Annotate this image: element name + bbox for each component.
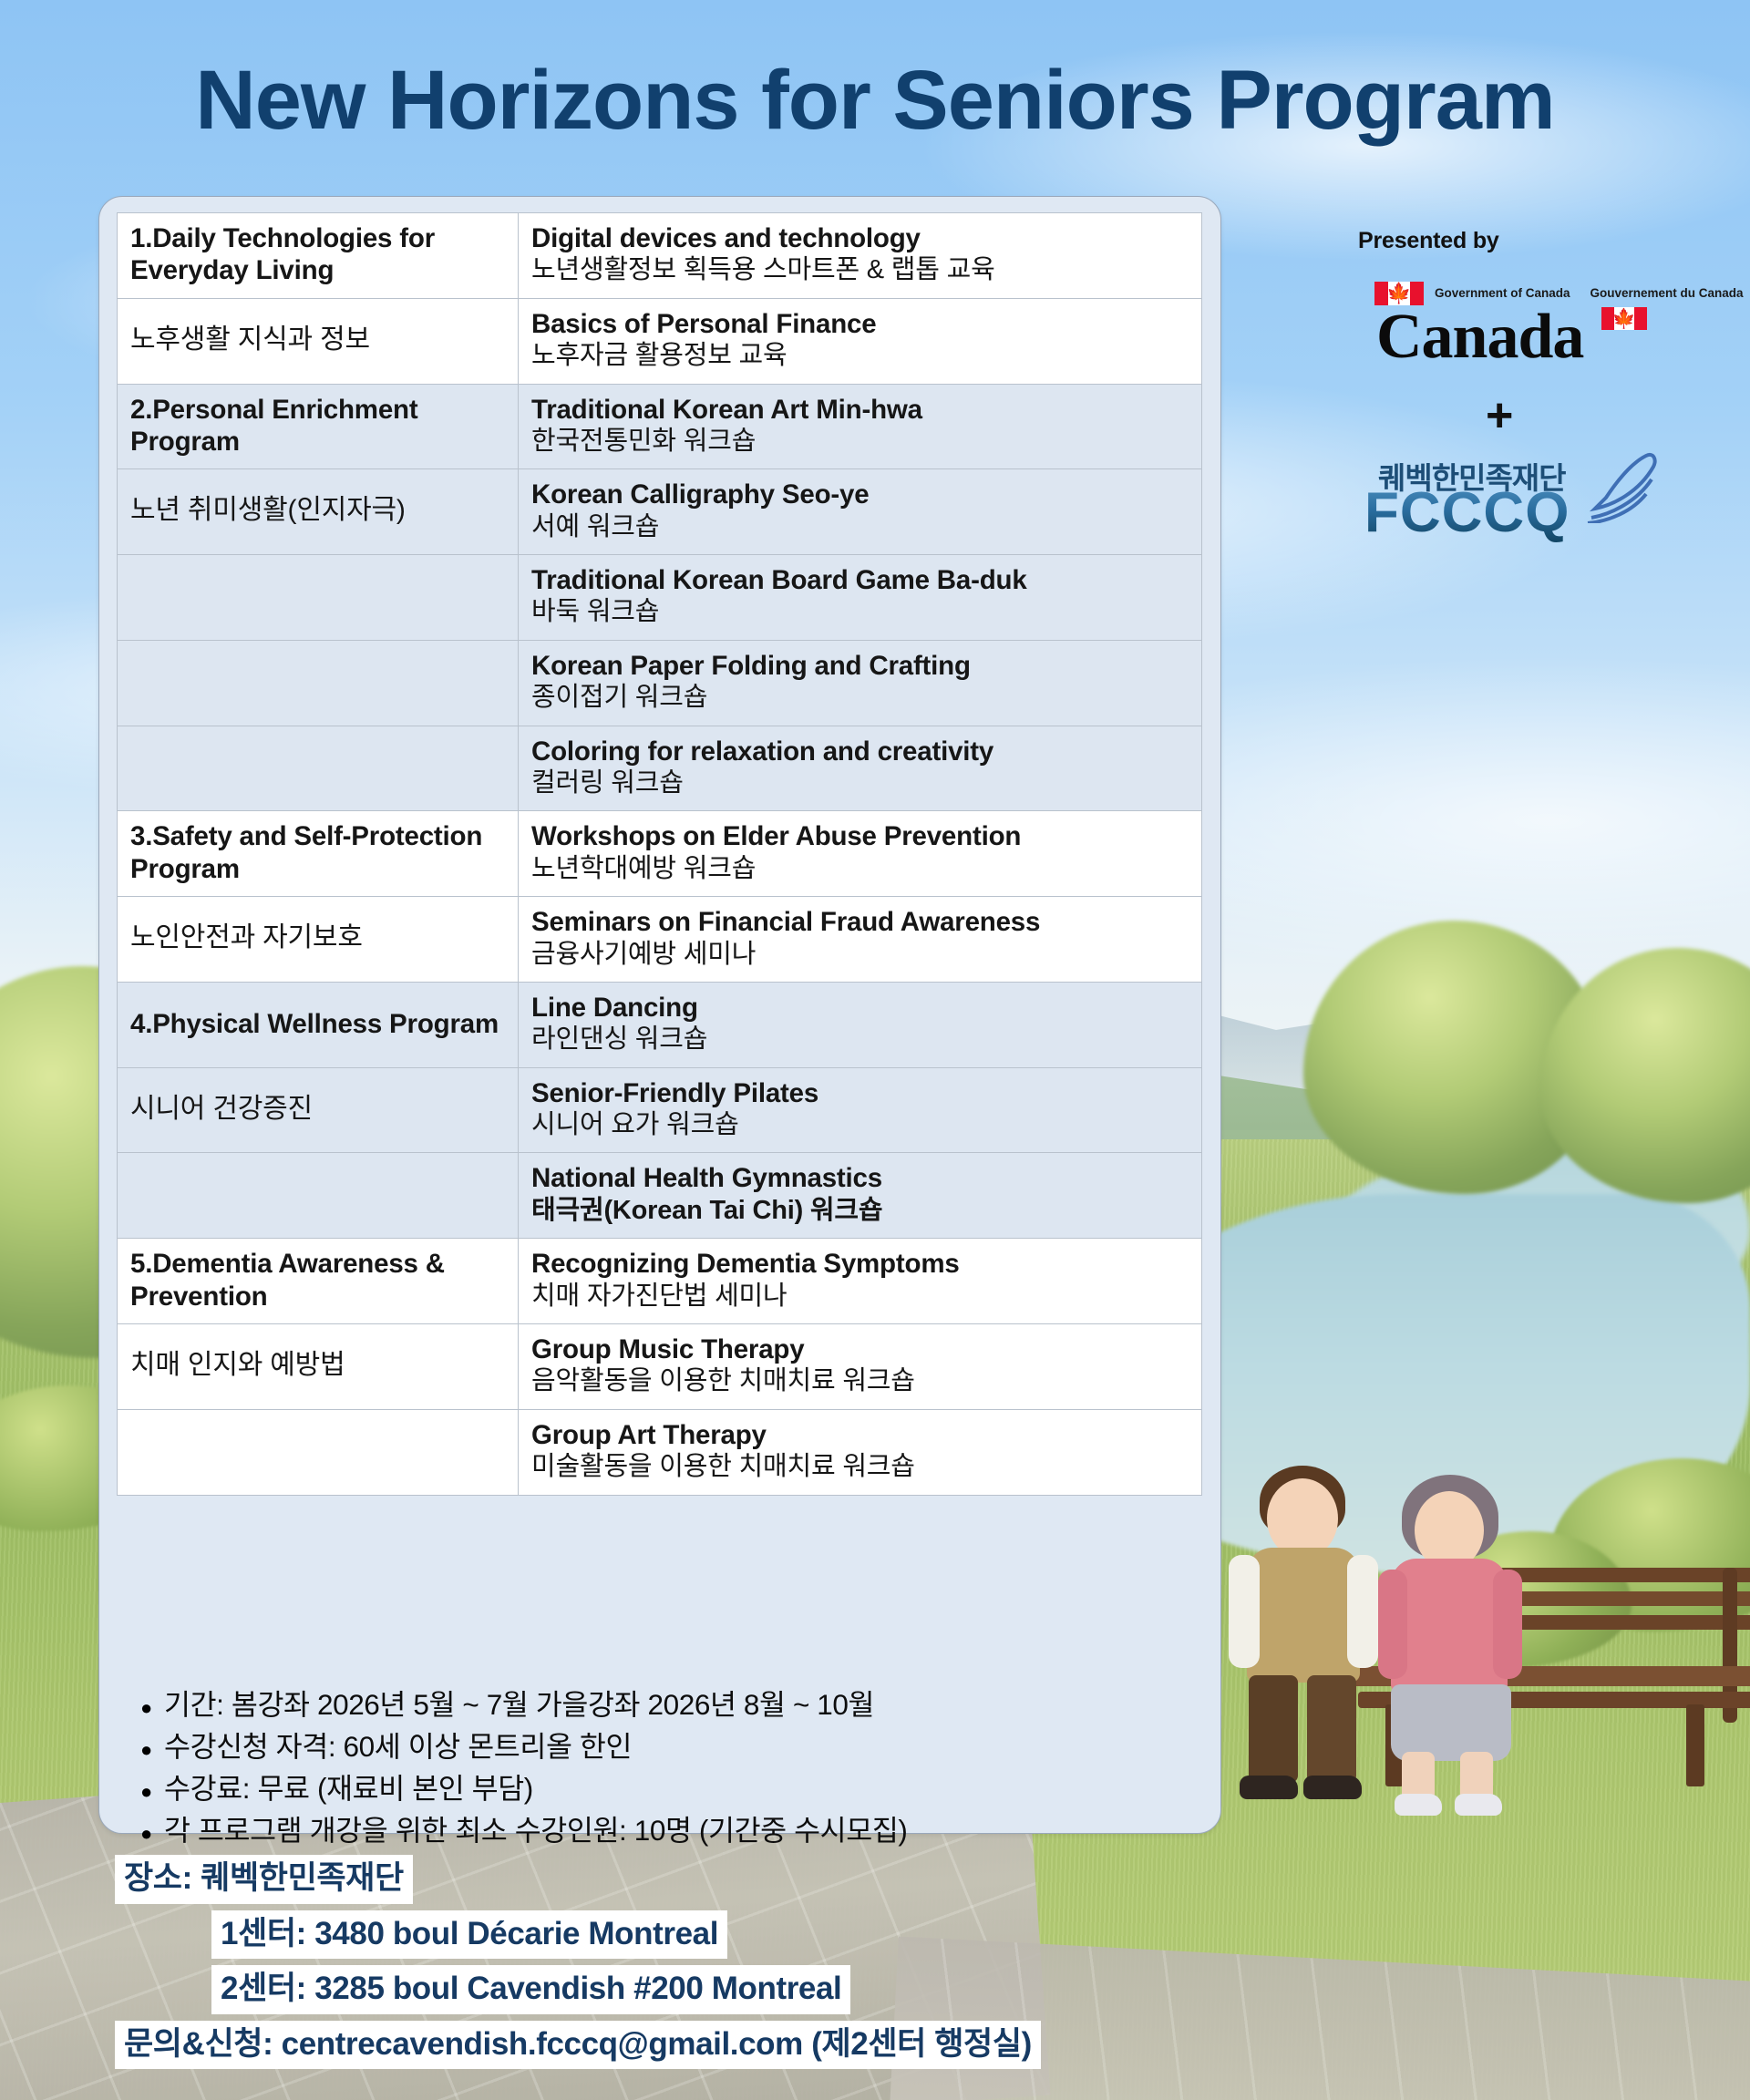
- address-center2: 2센터: 3285 boul Cavendish #200 Montreal: [211, 1965, 850, 2014]
- item-title-en: Line Dancing: [531, 992, 1190, 1024]
- woman-skirt: [1391, 1684, 1511, 1761]
- item-title-kr: 종이접기 워크숍: [531, 682, 1190, 714]
- bench-leg-right: [1686, 1704, 1704, 1786]
- category-title-kr: 노인안전과 자기보호: [130, 921, 507, 955]
- table-row: 노인안전과 자기보호Seminars on Financial Fraud Aw…: [118, 897, 1202, 983]
- note-text: 수강료: 무료 (재료비 본인 부담): [164, 1768, 533, 1810]
- bullet-icon: ●: [140, 1693, 164, 1723]
- program-schedule-table: 1.Daily Technologies for Everyday Living…: [117, 212, 1202, 1496]
- category-title-en: 4.Physical Wellness Program: [130, 1008, 507, 1040]
- list-item: ●수강료: 무료 (재료비 본인 부담): [117, 1768, 1201, 1810]
- item-title-kr: 노년생활정보 획득용 스마트폰 & 랩톱 교육: [531, 254, 1190, 286]
- bench-backrest-slat-3: [1486, 1615, 1750, 1630]
- table-row: 3.Safety and Self-Protection ProgramWork…: [118, 811, 1202, 897]
- category-title-en: 3.Safety and Self-Protection Program: [130, 820, 507, 885]
- table-row: National Health Gymnastics태극권(Korean Tai…: [118, 1153, 1202, 1239]
- table-row: 1.Daily Technologies for Everyday Living…: [118, 213, 1202, 299]
- item-title-en: Korean Calligraphy Seo-ye: [531, 479, 1190, 510]
- man-shoe-left: [1240, 1776, 1298, 1799]
- program-category-cell: [118, 1409, 519, 1495]
- program-category-cell: 치매 인지와 예방법: [118, 1324, 519, 1410]
- table-row: Group Art Therapy미술활동을 이용한 치매치료 워크숍: [118, 1409, 1202, 1495]
- program-item-cell: Recognizing Dementia Symptoms치매 자가진단법 세미…: [519, 1239, 1202, 1324]
- address-center1: 1센터: 3480 boul Décarie Montreal: [211, 1910, 727, 1960]
- woman-shoe-right: [1455, 1794, 1502, 1816]
- program-category-cell: 2.Personal Enrichment Program: [118, 384, 519, 469]
- program-category-cell: [118, 555, 519, 641]
- program-item-cell: Line Dancing라인댄싱 워크숍: [519, 982, 1202, 1067]
- program-category-cell: 1.Daily Technologies for Everyday Living: [118, 213, 519, 299]
- man-vest: [1247, 1548, 1360, 1683]
- program-item-cell: Workshops on Elder Abuse Prevention노년학대예…: [519, 811, 1202, 897]
- list-item: ●수강신청 자격: 60세 이상 몬트리올 한인: [117, 1726, 1201, 1768]
- address-block: 장소: 퀘벡한민족재단 1센터: 3480 boul Décarie Montr…: [0, 1855, 1750, 2075]
- table-row: 시니어 건강증진Senior-Friendly Pilates시니어 요가 워크…: [118, 1067, 1202, 1153]
- table-row: 2.Personal Enrichment ProgramTraditional…: [118, 384, 1202, 469]
- program-category-cell: [118, 726, 519, 811]
- item-title-en: Traditional Korean Board Game Ba-duk: [531, 564, 1190, 596]
- item-title-kr: 노후자금 활용정보 교육: [531, 340, 1190, 372]
- item-title-kr: 치매 자가진단법 세미나: [531, 1281, 1190, 1312]
- man-arm-right: [1347, 1555, 1378, 1668]
- note-text: 수강신청 자격: 60세 이상 몬트리올 한인: [164, 1726, 632, 1768]
- item-title-kr: 미술활동을 이용한 치매치료 워크숍: [531, 1451, 1190, 1483]
- program-category-cell: 노년 취미생활(인지자극): [118, 469, 519, 555]
- table-row: Korean Paper Folding and Crafting종이접기 워크…: [118, 640, 1202, 726]
- plus-separator-icon: +: [1486, 392, 1513, 439]
- program-item-cell: Coloring for relaxation and creativity컬러…: [519, 726, 1202, 811]
- item-title-kr: 시니어 요가 워크숍: [531, 1109, 1190, 1141]
- item-title-en: Coloring for relaxation and creativity: [531, 736, 1190, 767]
- program-item-cell: Traditional Korean Art Min-hwa한국전통민화 워크숍: [519, 384, 1202, 469]
- bench-backrest-slat-1: [1486, 1568, 1750, 1582]
- item-title-en: Korean Paper Folding and Crafting: [531, 650, 1190, 682]
- category-title-en: 2.Personal Enrichment Program: [130, 394, 507, 458]
- list-item: ●각 프로그램 개강을 위한 최소 수강인원: 10명 (기간중 수시모집): [117, 1810, 1201, 1852]
- maple-leaf-icon-small: 🍁: [1612, 309, 1636, 328]
- program-item-cell: Traditional Korean Board Game Ba-duk바둑 워…: [519, 555, 1202, 641]
- program-category-cell: 시니어 건강증진: [118, 1067, 519, 1153]
- program-notes-list: ●기간: 봄강좌 2026년 5월 ~ 7월 가을강좌 2026년 8월 ~ 1…: [117, 1670, 1201, 1861]
- list-item: ●기간: 봄강좌 2026년 5월 ~ 7월 가을강좌 2026년 8월 ~ 1…: [117, 1684, 1201, 1726]
- item-title-kr: 서예 워크숍: [531, 511, 1190, 543]
- man-arm-left: [1229, 1555, 1260, 1668]
- item-title-en: National Health Gymnastics: [531, 1162, 1190, 1194]
- item-title-kr: 라인댄싱 워크숍: [531, 1024, 1190, 1055]
- government-of-canada-fr: Gouvernement du Canada: [1590, 286, 1744, 302]
- bench-backrest-slat-2: [1486, 1591, 1750, 1606]
- program-category-cell: 5.Dementia Awareness & Prevention: [118, 1239, 519, 1324]
- table-row: Coloring for relaxation and creativity컬러…: [118, 726, 1202, 811]
- table-row: Traditional Korean Board Game Ba-duk바둑 워…: [118, 555, 1202, 641]
- woman-shoe-left: [1395, 1794, 1442, 1816]
- bullet-icon: ●: [140, 1777, 164, 1807]
- address-contact[interactable]: 문의&신청: centrecavendish.fcccq@gmail.com (…: [115, 2021, 1041, 2070]
- wing-icon: [1586, 441, 1666, 523]
- program-category-cell: [118, 640, 519, 726]
- item-title-en: Digital devices and technology: [531, 222, 1190, 254]
- item-title-kr: 노년학대예방 워크숍: [531, 853, 1190, 885]
- program-category-cell: 노인안전과 자기보호: [118, 897, 519, 983]
- table-row: 4.Physical Wellness ProgramLine Dancing라…: [118, 982, 1202, 1067]
- program-category-cell: [118, 1153, 519, 1239]
- program-item-cell: National Health Gymnastics태극권(Korean Tai…: [519, 1153, 1202, 1239]
- item-title-en: Senior-Friendly Pilates: [531, 1077, 1190, 1109]
- program-item-cell: Digital devices and technology노년생활정보 획득용…: [519, 213, 1202, 299]
- canada-wordmark-flag-icon: 🍁: [1601, 307, 1647, 330]
- category-title-kr: 노후생활 지식과 정보: [130, 324, 507, 357]
- table-row: 5.Dementia Awareness & PreventionRecogni…: [118, 1239, 1202, 1324]
- category-title-en: 1.Daily Technologies for Everyday Living: [130, 222, 507, 287]
- program-item-cell: Group Music Therapy음악활동을 이용한 치매치료 워크숍: [519, 1324, 1202, 1410]
- page-title: New Horizons for Seniors Program: [0, 53, 1750, 149]
- table-row: 노후생활 지식과 정보Basics of Personal Finance노후자…: [118, 298, 1202, 384]
- item-title-en: Basics of Personal Finance: [531, 308, 1190, 340]
- program-category-cell: 3.Safety and Self-Protection Program: [118, 811, 519, 897]
- woman-arm-right: [1493, 1570, 1522, 1679]
- program-item-cell: Group Art Therapy미술활동을 이용한 치매치료 워크숍: [519, 1409, 1202, 1495]
- item-title-kr: 금융사기예방 세미나: [531, 939, 1190, 971]
- item-title-en: Recognizing Dementia Symptoms: [531, 1248, 1190, 1280]
- item-title-en: Seminars on Financial Fraud Awareness: [531, 906, 1190, 938]
- item-title-kr: 음악활동을 이용한 치매치료 워크숍: [531, 1365, 1190, 1397]
- program-item-cell: Seminars on Financial Fraud Awareness금융사…: [519, 897, 1202, 983]
- table-row: 치매 인지와 예방법Group Music Therapy음악활동을 이용한 치…: [118, 1324, 1202, 1410]
- program-item-cell: Korean Calligraphy Seo-ye서예 워크숍: [519, 469, 1202, 555]
- man-leg-left: [1249, 1675, 1298, 1783]
- note-text: 기간: 봄강좌 2026년 5월 ~ 7월 가을강좌 2026년 8월 ~ 10…: [164, 1684, 874, 1726]
- note-text: 각 프로그램 개강을 위한 최소 수강인원: 10명 (기간중 수시모집): [164, 1810, 908, 1852]
- program-item-cell: Korean Paper Folding and Crafting종이접기 워크…: [519, 640, 1202, 726]
- fcccq-wordmark: FCCCQ: [1364, 480, 1570, 545]
- item-title-kr: 컬러링 워크숍: [531, 767, 1190, 799]
- item-title-kr: 태극권(Korean Tai Chi) 워크숍: [531, 1195, 1190, 1227]
- elderly-couple-illustration: [1212, 1431, 1750, 1832]
- category-title-kr: 시니어 건강증진: [130, 1093, 507, 1127]
- woman-arm-left: [1378, 1570, 1407, 1679]
- canada-wordmark: Canada: [1376, 301, 1583, 374]
- category-title-en: 5.Dementia Awareness & Prevention: [130, 1248, 507, 1312]
- address-venue: 장소: 퀘벡한민족재단: [115, 1855, 413, 1904]
- item-title-en: Group Art Therapy: [531, 1419, 1190, 1451]
- bullet-icon: ●: [140, 1819, 164, 1848]
- item-title-kr: 한국전통민화 워크숍: [531, 426, 1190, 458]
- poster-root: New Horizons for Seniors Program 1.Daily…: [0, 0, 1750, 2100]
- presented-by-label: Presented by: [1358, 228, 1499, 254]
- bullet-icon: ●: [140, 1735, 164, 1765]
- category-title-kr: 노년 취미생활(인지자극): [130, 494, 507, 528]
- table-row: 노년 취미생활(인지자극)Korean Calligraphy Seo-ye서예…: [118, 469, 1202, 555]
- government-of-canada-en: Government of Canada: [1435, 286, 1570, 302]
- man-leg-right: [1307, 1675, 1356, 1783]
- item-title-en: Group Music Therapy: [531, 1333, 1190, 1365]
- man-head: [1267, 1478, 1338, 1559]
- item-title-en: Workshops on Elder Abuse Prevention: [531, 820, 1190, 852]
- program-category-cell: 노후생활 지식과 정보: [118, 298, 519, 384]
- program-item-cell: Basics of Personal Finance노후자금 활용정보 교육: [519, 298, 1202, 384]
- man-shoe-right: [1303, 1776, 1362, 1799]
- item-title-kr: 바둑 워크숍: [531, 596, 1190, 628]
- woman-cardigan: [1391, 1559, 1508, 1693]
- program-item-cell: Senior-Friendly Pilates시니어 요가 워크숍: [519, 1067, 1202, 1153]
- program-category-cell: 4.Physical Wellness Program: [118, 982, 519, 1067]
- item-title-en: Traditional Korean Art Min-hwa: [531, 394, 1190, 426]
- category-title-kr: 치매 인지와 예방법: [130, 1349, 507, 1383]
